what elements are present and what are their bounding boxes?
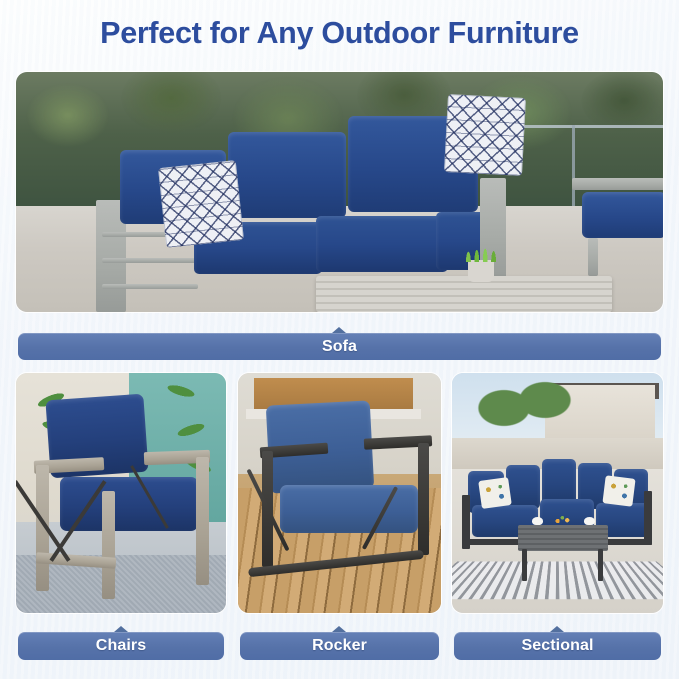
accent-pillow bbox=[478, 477, 512, 509]
rocker-photo bbox=[238, 373, 441, 613]
sectional-photo bbox=[452, 373, 663, 613]
side-chair-leg bbox=[588, 238, 598, 276]
sofa-arm-slat bbox=[102, 284, 198, 289]
rocker-label-text: Rocker bbox=[312, 637, 367, 655]
coffee-cup bbox=[584, 517, 595, 525]
chairs-photo bbox=[16, 373, 226, 613]
side-chair-cushion bbox=[582, 192, 663, 238]
plant-pot bbox=[468, 260, 494, 282]
rocker-seat-cushion bbox=[280, 485, 418, 533]
header: Perfect for Any Outdoor Furniture bbox=[0, 17, 679, 51]
throw-pillow bbox=[158, 160, 244, 248]
sectional-label-bar[interactable]: Sectional bbox=[454, 632, 661, 660]
potted-grass bbox=[460, 232, 502, 262]
chair-leg-back-right bbox=[196, 457, 209, 585]
chair-seat-cushion bbox=[60, 477, 198, 531]
sofa-back-cushion bbox=[228, 132, 346, 218]
table-leg bbox=[522, 549, 527, 581]
chairs-photo-image bbox=[16, 373, 226, 613]
page-title: Perfect for Any Outdoor Furniture bbox=[100, 17, 579, 51]
tree-canopy bbox=[506, 375, 584, 425]
sofa-photo bbox=[16, 72, 663, 312]
rocker-scene bbox=[238, 373, 441, 613]
accent-pillow bbox=[602, 475, 635, 506]
throw-pillow bbox=[444, 94, 526, 176]
table-leg bbox=[598, 549, 603, 581]
rocker-leg-rear bbox=[418, 443, 429, 555]
rocker-photo-image bbox=[238, 373, 441, 613]
sectional-label-text: Sectional bbox=[521, 637, 593, 655]
fruit-bowl bbox=[548, 513, 580, 529]
chairs-scene bbox=[16, 373, 226, 613]
sofa-seat-cushion bbox=[316, 216, 448, 272]
rocker-label-bar[interactable]: Rocker bbox=[240, 632, 439, 660]
sofa-label-bar[interactable]: Sofa bbox=[18, 333, 661, 360]
coffee-table bbox=[316, 276, 612, 312]
infographic-canvas: Perfect for Any Outdoor Furniture bbox=[0, 0, 679, 679]
sofa-scene bbox=[16, 72, 663, 312]
sofa-photo-image bbox=[16, 72, 663, 312]
sofa-label-text: Sofa bbox=[322, 338, 357, 356]
sectional-photo-image bbox=[452, 373, 663, 613]
chairs-label-bar[interactable]: Chairs bbox=[18, 632, 224, 660]
sofa-arm-slat bbox=[102, 258, 198, 263]
chairs-label-text: Chairs bbox=[96, 637, 146, 655]
coffee-cup bbox=[532, 517, 543, 525]
railing-post bbox=[572, 125, 575, 207]
side-chair-frame bbox=[572, 178, 663, 190]
sectional-scene bbox=[452, 373, 663, 613]
sectional-frame-right bbox=[644, 491, 652, 545]
chair-leg-front-right bbox=[102, 491, 115, 599]
